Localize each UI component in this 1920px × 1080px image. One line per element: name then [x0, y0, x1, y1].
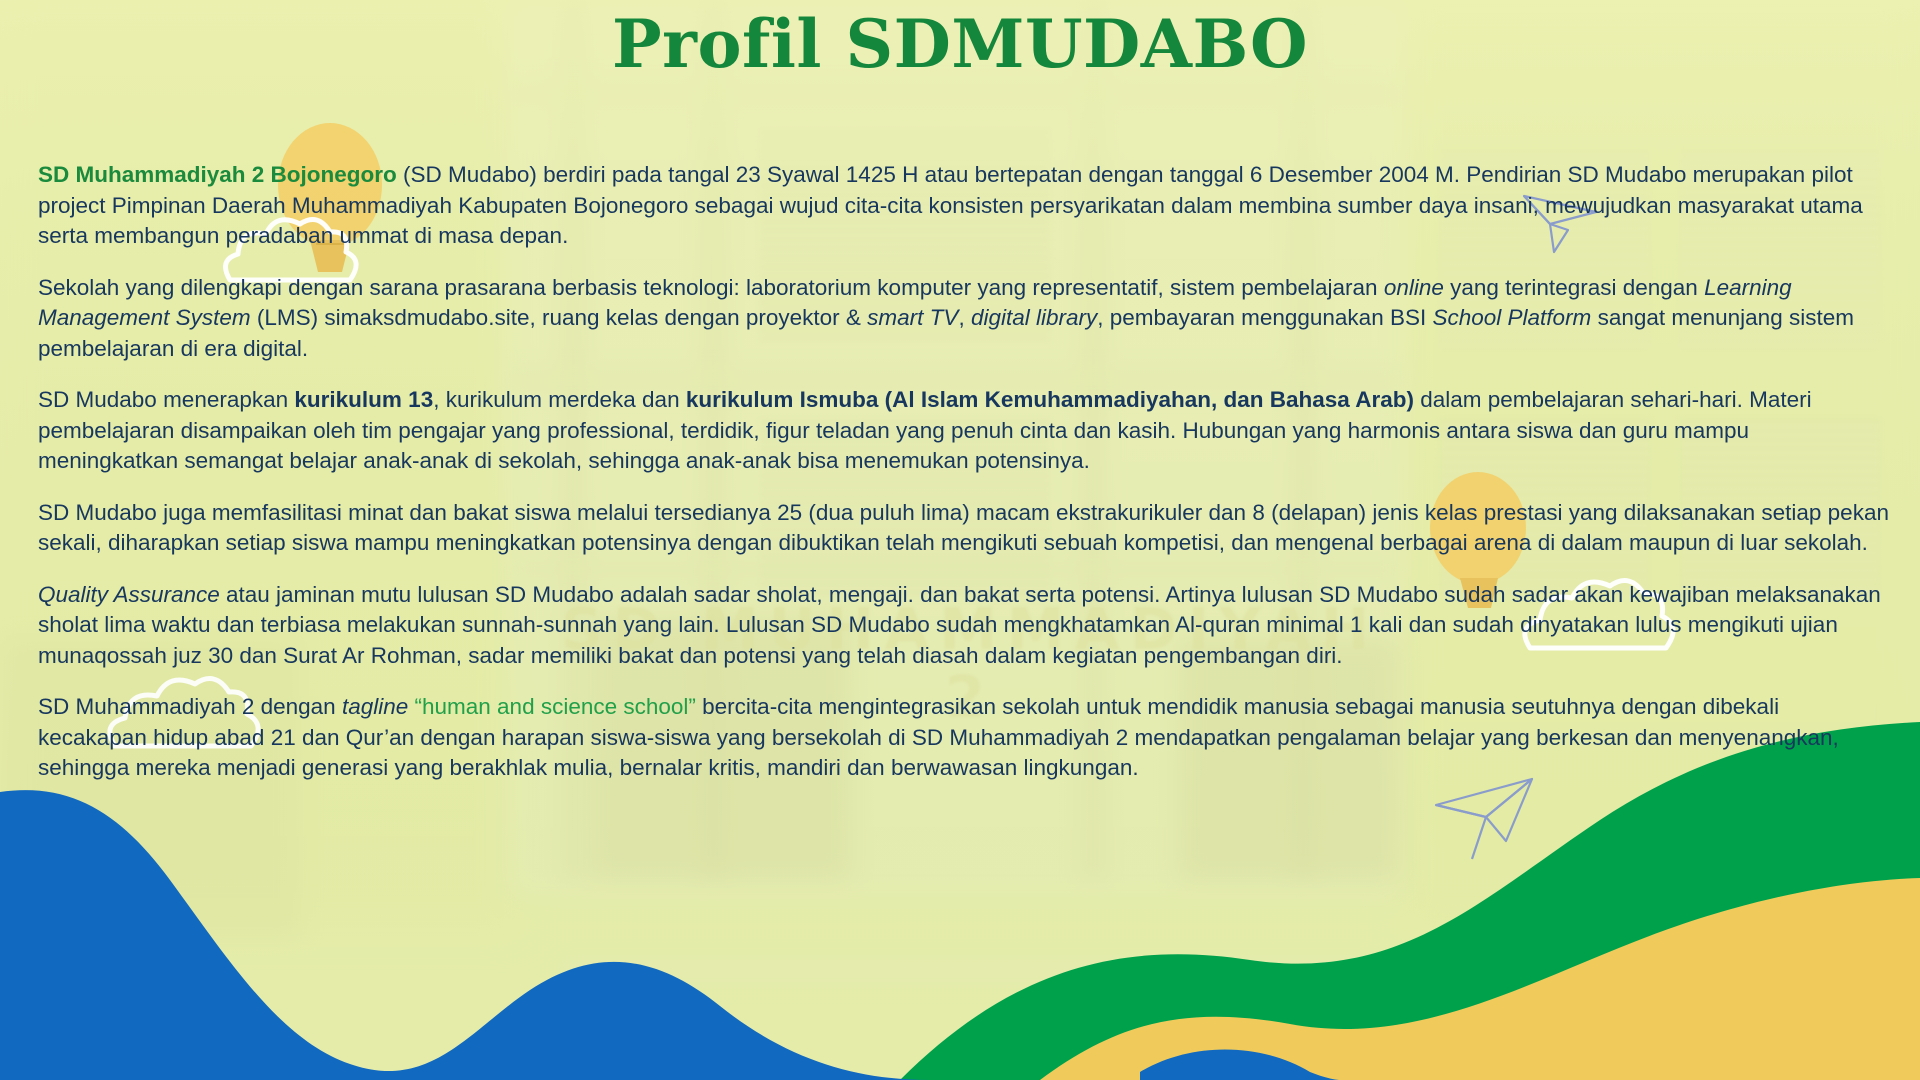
- paragraph-sarana: Sekolah yang dilengkapi dengan sarana pr…: [38, 273, 1890, 365]
- sarana-text-5: , pembayaran menggunakan BSI: [1097, 305, 1432, 330]
- paragraph-ekstrakurikuler: SD Mudabo juga memfasilitasi minat dan b…: [38, 498, 1890, 559]
- tagline-lead-text: SD Muhammadiyah 2 dengan: [38, 694, 342, 719]
- slide-canvas: SD MUHAMMADIYAH 2 Profil SDMUDABO: [0, 0, 1920, 1080]
- tagline-quote: “human and science school”: [408, 694, 696, 719]
- sarana-text-4: ,: [958, 305, 971, 330]
- profile-body-text: SD Muhammadiyah 2 Bojonegoro (SD Mudabo)…: [38, 160, 1890, 784]
- term-digital-library: digital library: [971, 305, 1097, 330]
- paragraph-pendirian: SD Muhammadiyah 2 Bojonegoro (SD Mudabo)…: [38, 160, 1890, 252]
- term-kurikulum-13: kurikulum 13: [294, 387, 433, 412]
- sarana-text-2: yang terintegrasi dengan: [1444, 275, 1704, 300]
- term-quality-assurance: Quality Assurance: [38, 582, 220, 607]
- paragraph-kurikulum: SD Mudabo menerapkan kurikulum 13, kurik…: [38, 385, 1890, 477]
- page-title: Profil SDMUDABO: [0, 10, 1920, 79]
- slide-content: Profil SDMUDABO SD Muhammadiyah 2 Bojone…: [0, 0, 1920, 1080]
- term-smart-tv: smart TV: [867, 305, 958, 330]
- term-tagline: tagline: [342, 694, 408, 719]
- sarana-lead-text: Sekolah yang dilengkapi dengan sarana pr…: [38, 275, 1384, 300]
- kurikulum-text-2: , kurikulum merdeka dan: [433, 387, 686, 412]
- ekstrakurikuler-text: SD Mudabo juga memfasilitasi minat dan b…: [38, 500, 1889, 556]
- term-school-platform: School Platform: [1432, 305, 1591, 330]
- paragraph-quality-assurance: Quality Assurance atau jaminan mutu lulu…: [38, 580, 1890, 672]
- term-kurikulum-ismuba: kurikulum Ismuba (Al Islam Kemuhammadiya…: [686, 387, 1414, 412]
- school-name-highlight: SD Muhammadiyah 2 Bojonegoro: [38, 162, 397, 187]
- sarana-text-3: (LMS) simaksdmudabo.site, ruang kelas de…: [251, 305, 868, 330]
- quality-assurance-text: atau jaminan mutu lulusan SD Mudabo adal…: [38, 582, 1881, 668]
- term-online: online: [1384, 275, 1444, 300]
- paragraph-tagline: SD Muhammadiyah 2 dengan tagline “human …: [38, 692, 1890, 784]
- kurikulum-lead-text: SD Mudabo menerapkan: [38, 387, 294, 412]
